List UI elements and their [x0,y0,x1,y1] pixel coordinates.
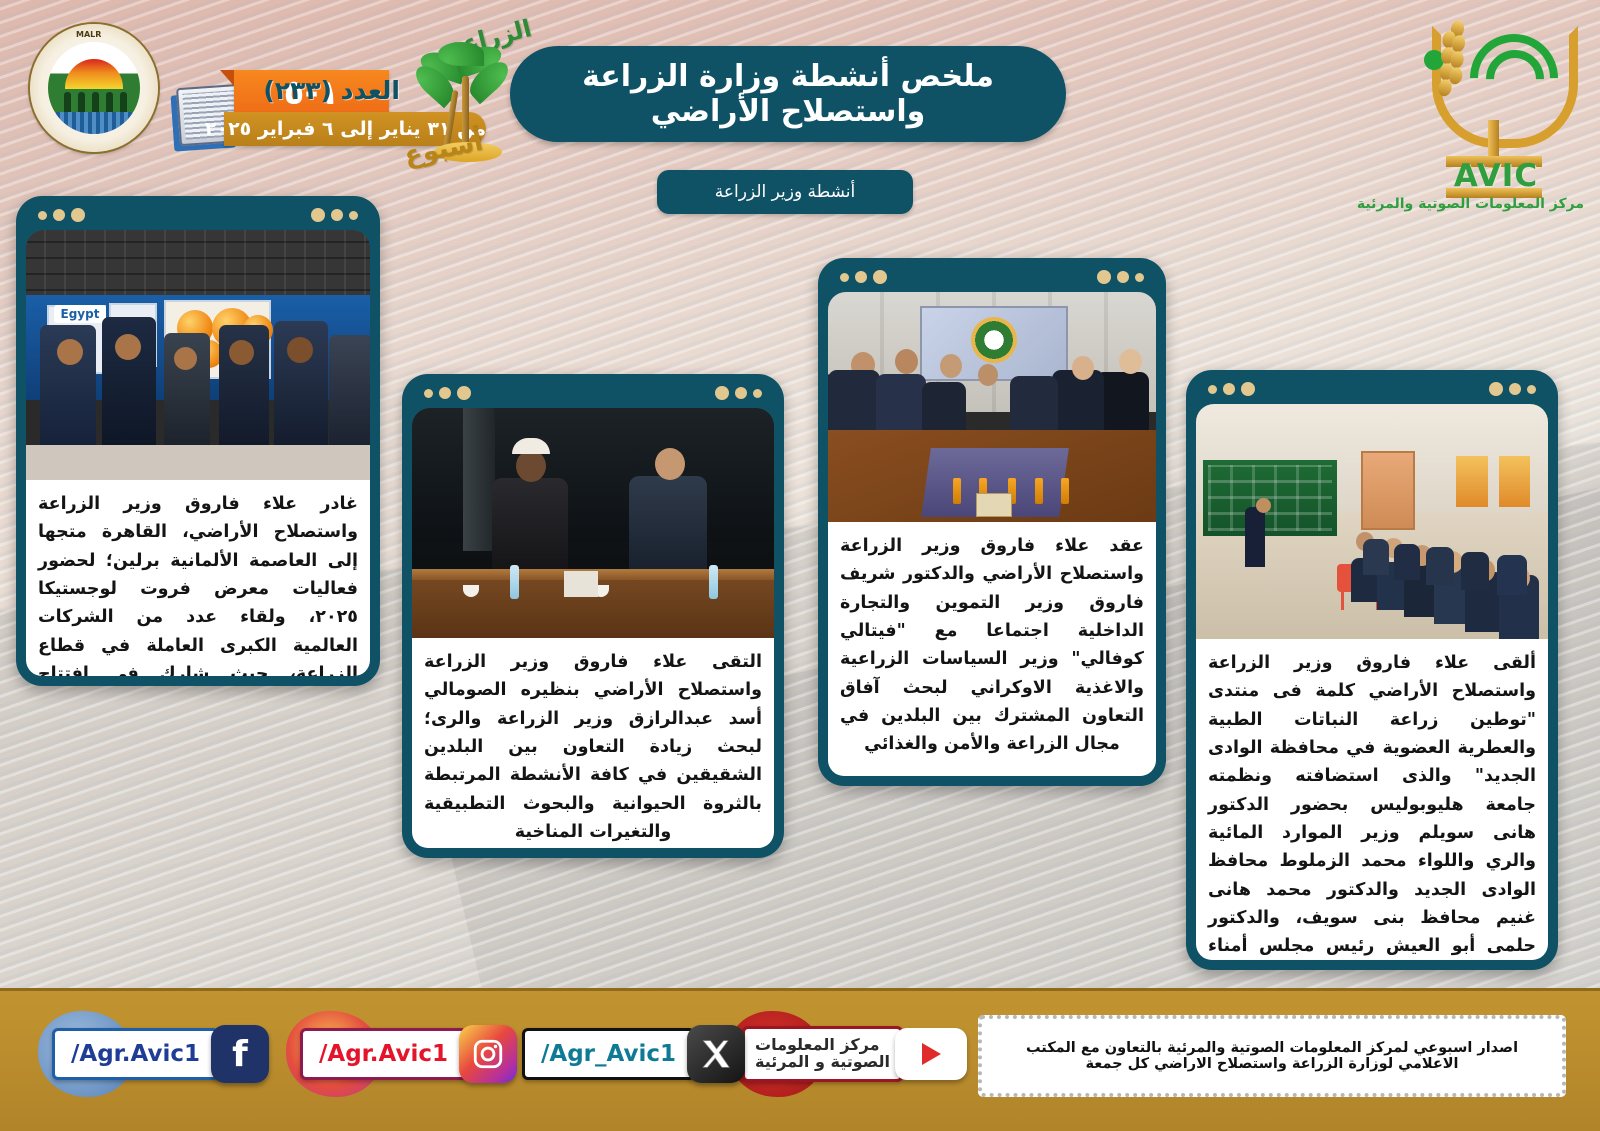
seal-acronym: MALR [76,30,101,39]
issue-label: العدد (٢٣٣) [263,76,400,105]
page-footer: f /Agr.Avic1 /Agr.Avic1 /Agr_Avic1 مركز … [0,988,1600,1131]
card-caption: التقى علاء فاروق وزير الزراعة واستصلاح ا… [412,638,774,848]
news-card[interactable]: التقى علاء فاروق وزير الزراعة واستصلاح ا… [402,374,784,858]
page-header: MALR ١-٥ العدد (٢٣٣) من ٣١ يناير إلى ٦ ف… [0,0,1600,200]
card-photo-expo-hall: Egypt [26,230,370,480]
footer-note: اصدار اسبوعي لمركز المعلومات الصوتية وال… [978,1015,1566,1097]
seal-plants-icon [48,81,140,112]
facebook-handle: /Agr.Avic1 [52,1028,219,1080]
card-body: ألقى علاء فاروق وزير الزراعة واستصلاح ال… [1196,404,1548,960]
youtube-handle-line2: الصوتية و المرئية [755,1054,890,1071]
x-twitter-icon [687,1025,745,1083]
card-photo-bilateral-meeting [412,408,774,638]
broadcast-wave-icon [1460,24,1556,116]
youtube-handle: مركز المعلومات الصوتية و المرئية [742,1026,903,1082]
card-body: Egypt غادر علاء فاروق وزير الزراعة واستص… [26,230,370,676]
window-dots-right [311,208,358,222]
social-link-instagram[interactable]: /Agr.Avic1 [300,1017,517,1091]
avic-wordmark: AVIC [1446,158,1546,194]
card-caption: ألقى علاء فاروق وزير الزراعة واستصلاح ال… [1196,639,1548,960]
palm-word-bottom: أسبوع [402,127,485,172]
news-card[interactable]: عقد علاء فاروق وزير الزراعة واستصلاح الأ… [818,258,1166,786]
instagram-icon [459,1025,517,1083]
ministry-seal-logo: MALR [30,24,158,152]
section-subtitle: أنشطة وزير الزراعة [657,170,913,214]
avic-logo: AVIC مركز المعلومات الصوتية والمرئية [1384,8,1584,188]
window-dots-left [424,386,471,400]
window-dots-left [1208,382,1255,396]
card-photo-conference-table [828,292,1156,522]
window-dots-left [38,208,85,222]
youtube-icon [895,1028,967,1080]
card-photo-forum-hall [1196,404,1548,639]
window-dots-right [715,386,762,400]
palm-frond-icon [438,42,484,66]
card-body: عقد علاء فاروق وزير الزراعة واستصلاح الأ… [828,292,1156,776]
card-body: التقى علاء فاروق وزير الزراعة واستصلاح ا… [412,408,774,848]
page-title: ملخص أنشطة وزارة الزراعة واستصلاح الأراض… [510,46,1066,142]
window-dots-right [1489,382,1536,396]
social-link-facebook[interactable]: f /Agr.Avic1 [52,1017,269,1091]
card-caption: عقد علاء فاروق وزير الزراعة واستصلاح الأ… [828,522,1156,776]
seal-inner-emblem [48,42,140,134]
seal-water-icon [48,112,140,134]
avic-tagline: مركز المعلومات الصوتية والمرئية [1384,196,1584,212]
news-card[interactable]: ألقى علاء فاروق وزير الزراعة واستصلاح ال… [1186,370,1558,970]
social-link-x-twitter[interactable]: /Agr_Avic1 [522,1017,745,1091]
x-twitter-handle: /Agr_Avic1 [522,1028,695,1080]
palm-tree-decoration: الزراعة أسبوع [404,18,524,178]
facebook-icon: f [211,1025,269,1083]
window-dots-left [840,270,887,284]
social-link-youtube[interactable]: مركز المعلومات الصوتية و المرئية [742,1017,967,1091]
instagram-handle: /Agr.Avic1 [300,1028,467,1080]
window-dots-right [1097,270,1144,284]
card-caption: غادر علاء فاروق وزير الزراعة واستصلاح ال… [26,480,370,676]
news-card[interactable]: Egypt غادر علاء فاروق وزير الزراعة واستص… [16,196,380,686]
